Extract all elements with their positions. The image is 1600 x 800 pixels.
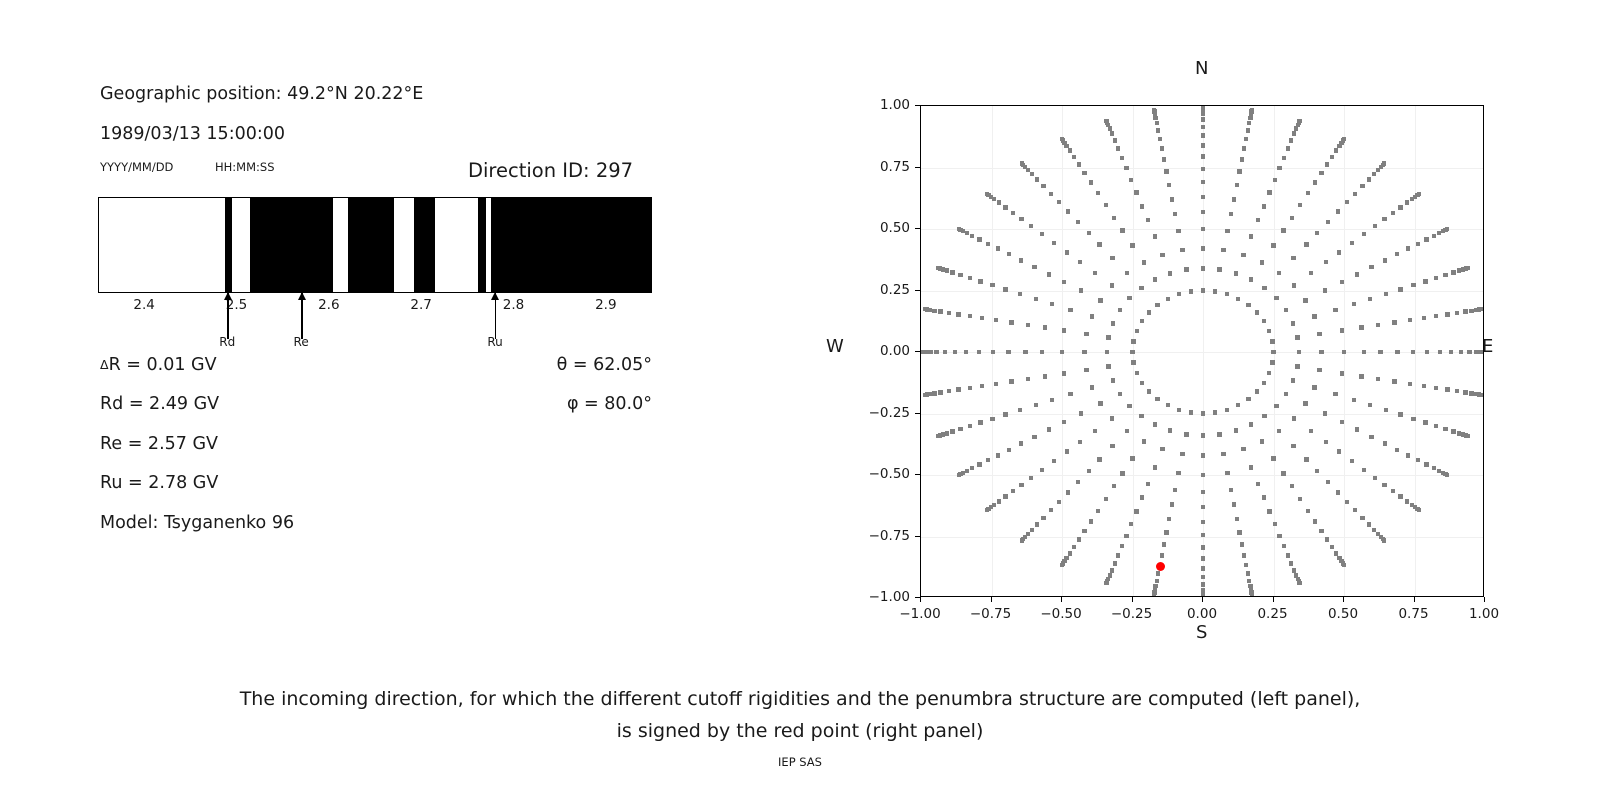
- sky-map-direction-dot: [1376, 323, 1380, 327]
- sky-map-direction-dot: [1155, 579, 1159, 583]
- sky-map-direction-dot: [1262, 381, 1266, 385]
- sky-map-direction-dot: [1336, 490, 1340, 494]
- sky-map-direction-dot: [1116, 146, 1120, 150]
- sky-map-direction-dot: [1041, 516, 1045, 520]
- sky-map-direction-dot: [1292, 416, 1296, 420]
- sky-map-direction-dot: [997, 499, 1001, 503]
- y-axis-tick-label: 0.00: [854, 343, 910, 359]
- sky-map-direction-dot: [1079, 288, 1083, 292]
- sky-map-direction-dot: [1040, 468, 1044, 472]
- sky-map-direction-dot: [980, 384, 984, 388]
- sky-map-direction-dot: [1443, 427, 1447, 431]
- sky-map-direction-dot: [1406, 246, 1410, 250]
- sky-map-direction-dot: [1392, 320, 1396, 324]
- sky-map-direction-dot: [950, 270, 954, 274]
- sky-map-direction-dot: [1124, 534, 1128, 538]
- sky-map-direction-dot: [1479, 393, 1483, 397]
- sky-map-direction-dot: [1291, 256, 1295, 260]
- sky-map-direction-dot: [1466, 266, 1470, 270]
- sky-map-direction-dot: [1089, 180, 1093, 184]
- sky-map-direction-dot: [1201, 520, 1205, 524]
- sky-map-direction-dot: [990, 417, 994, 421]
- sky-map-direction-dot: [1201, 288, 1205, 292]
- sky-map-direction-dot: [1057, 200, 1061, 204]
- penumbra-marker-ru-arrow-icon: [495, 293, 496, 339]
- sky-map-direction-dot: [1201, 533, 1205, 537]
- sky-map-direction-dot: [1319, 529, 1323, 533]
- caption-line-2: is signed by the red point (right panel): [0, 715, 1600, 747]
- sky-map-direction-dot: [1432, 234, 1436, 238]
- sky-map-direction-dot: [1434, 276, 1438, 280]
- sky-map-direction-dot: [1156, 128, 1160, 132]
- sky-map-direction-dot: [1106, 335, 1110, 339]
- sky-map-direction-dot: [1130, 350, 1134, 354]
- sky-map-direction-dot: [1298, 203, 1302, 207]
- sky-map-direction-dot: [1267, 371, 1271, 375]
- sky-map-direction-dot: [1246, 397, 1250, 401]
- sky-map-direction-dot: [1068, 148, 1072, 152]
- sky-map-direction-dot: [1201, 125, 1205, 129]
- penumbra-tick-label: 2.6: [318, 297, 339, 313]
- x-axis-tick-mark: [1414, 597, 1415, 602]
- y-axis-tick-label: 1.00: [854, 97, 910, 113]
- penumbra-marker-ru-label: Ru: [487, 335, 502, 349]
- sky-map-direction-dot: [1295, 335, 1299, 339]
- sky-map-direction-dot: [968, 276, 972, 280]
- sky-map-direction-dot: [1229, 488, 1233, 492]
- x-axis-tick-mark: [1343, 597, 1344, 602]
- sky-map-direction-dot: [1309, 429, 1313, 433]
- param-model: Model: Tsyganenko 96: [100, 513, 294, 533]
- sky-map-direction-dot: [1250, 108, 1254, 112]
- sky-map-direction-dot: [1445, 387, 1449, 391]
- sky-map-direction-dot: [1323, 288, 1327, 292]
- sky-map-direction-dot: [1422, 316, 1426, 320]
- sky-map-direction-dot: [1201, 505, 1205, 509]
- penumbra-strip: [98, 197, 652, 293]
- penumbra-tick-label: 2.4: [133, 297, 154, 313]
- sky-map-direction-dot: [1019, 258, 1023, 262]
- sky-map-direction-dot: [1326, 480, 1330, 484]
- sky-map-direction-dot: [1040, 232, 1044, 236]
- penumbra-blocked-band: [225, 198, 231, 292]
- sky-map-direction-dot: [1201, 575, 1205, 579]
- sky-map-direction-dot: [1391, 489, 1395, 493]
- sky-map-direction-dot: [1018, 292, 1022, 296]
- sky-map-direction-dot: [1009, 379, 1013, 383]
- sky-map-direction-dot: [1244, 137, 1248, 141]
- sky-map-direction-dot: [1140, 381, 1144, 385]
- sky-map-direction-dot: [1330, 545, 1334, 549]
- penumbra-chart: [98, 197, 652, 293]
- sky-map-direction-dot: [1098, 298, 1102, 302]
- sky-map-direction-dot: [1241, 447, 1245, 451]
- x-axis-tick-mark: [1132, 597, 1133, 602]
- sky-map-direction-dot: [1120, 156, 1124, 160]
- sky-map-direction-dot: [1247, 121, 1251, 125]
- param-text: R = 0.01 GV: [109, 355, 217, 375]
- sky-map-direction-dot: [1047, 272, 1051, 276]
- sky-map-direction-dot: [947, 389, 951, 393]
- sky-map-direction-dot: [1267, 190, 1271, 194]
- sky-map-direction-dot: [1445, 312, 1449, 316]
- sky-map-direction-dot: [1160, 146, 1164, 150]
- penumbra-marker-rd-arrow-icon: [227, 293, 228, 339]
- sky-map-direction-dot: [1326, 220, 1330, 224]
- sky-map-direction-dot: [1384, 292, 1388, 296]
- sky-map-direction-dot: [1140, 204, 1144, 208]
- sky-map-direction-dot: [1153, 234, 1157, 238]
- sky-map-direction-dot: [1236, 297, 1240, 301]
- sky-map-direction-dot: [1342, 137, 1346, 141]
- sky-map-direction-dot: [977, 462, 981, 466]
- sky-map-direction-dot: [1340, 280, 1344, 284]
- sky-map-direction-dot: [1304, 242, 1308, 246]
- sky-map-direction-dot: [1201, 143, 1205, 147]
- sky-map-direction-dot: [1382, 217, 1386, 221]
- sky-map-direction-dot: [1158, 137, 1162, 141]
- sky-map-direction-dot: [1281, 228, 1285, 232]
- penumbra-marker-re-arrow-icon: [301, 293, 302, 339]
- sky-map-direction-dot: [1362, 350, 1366, 354]
- sky-map-direction-dot: [932, 391, 936, 395]
- param-text: Ru = 2.78 GV: [100, 473, 218, 493]
- sky-map-direction-dot: [1180, 248, 1184, 252]
- sky-map-direction-dot: [1368, 403, 1372, 407]
- sky-map-direction-dot: [1455, 311, 1459, 315]
- sky-map-direction-dot: [1084, 332, 1088, 336]
- sky-map-direction-dot: [953, 350, 957, 354]
- compass-south-label: S: [1196, 622, 1207, 643]
- sky-map-direction-dot: [1087, 231, 1091, 235]
- param-re: Re = 2.57 GV: [100, 434, 218, 454]
- sky-map-direction-dot: [1168, 428, 1172, 432]
- sky-map-direction-dot: [1330, 155, 1334, 159]
- sky-map-direction-dot: [1443, 273, 1447, 277]
- sky-map-direction-dot: [1155, 121, 1159, 125]
- sky-map-direction-dot: [1155, 303, 1159, 307]
- sky-map-direction-dot: [1398, 412, 1402, 416]
- sky-map-direction-dot: [1451, 429, 1455, 433]
- sky-map-direction-dot: [1062, 328, 1066, 332]
- y-axis-tick-mark: [915, 474, 920, 475]
- sky-map-direction-dot: [1372, 172, 1376, 176]
- sky-map-direction-dot: [1201, 167, 1205, 171]
- sky-map-direction-dot: [1118, 308, 1122, 312]
- sky-map-direction-dot: [1135, 329, 1139, 333]
- sky-map-direction-dot: [1082, 171, 1086, 175]
- sky-map-direction-dot: [1249, 465, 1253, 469]
- sky-map-plot-area: [920, 105, 1484, 597]
- sky-map-direction-dot: [1411, 417, 1415, 421]
- sky-map-direction-dot: [1177, 292, 1181, 296]
- sky-map-direction-dot: [1120, 544, 1124, 548]
- penumbra-marker-re-label: Re: [294, 335, 309, 349]
- sky-map-direction-dot: [1319, 171, 1323, 175]
- sky-map-direction-dot: [1298, 497, 1302, 501]
- penumbra-axis: 2.42.52.62.72.82.9RdReRu: [98, 293, 652, 339]
- sky-map-direction-dot: [977, 350, 981, 354]
- sky-map-direction-dot: [1201, 180, 1205, 184]
- sky-map-direction-dot: [1434, 386, 1438, 390]
- sky-map-direction-dot: [1244, 563, 1248, 567]
- sky-map-direction-dot: [1282, 156, 1286, 160]
- sky-map-direction-dot: [968, 314, 972, 318]
- penumbra-blocked-band: [414, 198, 435, 292]
- sky-map-direction-dot: [1369, 435, 1373, 439]
- sky-map-direction-dot: [1120, 228, 1124, 232]
- penumbra-tick-label: 2.7: [410, 297, 431, 313]
- sky-map-direction-dot: [1090, 314, 1094, 318]
- sky-map-direction-dot: [1184, 432, 1188, 436]
- sky-map-direction-dot: [1289, 138, 1293, 142]
- sky-map-direction-dot: [1324, 260, 1328, 264]
- sky-map-direction-dot: [1463, 390, 1467, 394]
- x-axis-tick-label: 0.00: [1187, 606, 1217, 622]
- sky-map-direction-dot: [1267, 329, 1271, 333]
- y-axis-tick-label: 0.25: [854, 282, 910, 298]
- sky-map-direction-dot: [1104, 203, 1108, 207]
- sky-map-direction-dot: [1007, 252, 1011, 256]
- sky-map-direction-dot: [1097, 242, 1101, 246]
- penumbra-tick-label: 2.8: [503, 297, 524, 313]
- sky-map-direction-dot: [1292, 131, 1296, 135]
- sky-map-direction-dot: [1423, 279, 1427, 283]
- sky-map-direction-dot: [1352, 398, 1356, 402]
- y-axis-tick-mark: [915, 413, 920, 414]
- sky-map-direction-dot: [1333, 392, 1337, 396]
- sky-map-direction-dot: [1445, 227, 1449, 231]
- sky-map-direction-dot: [923, 393, 927, 397]
- sky-map-direction-dot: [1340, 420, 1344, 424]
- sky-map-direction-dot: [1112, 216, 1116, 220]
- sky-map-direction-dot: [1273, 522, 1277, 526]
- sky-map-direction-dot: [923, 307, 927, 311]
- sky-map-direction-dot: [1260, 260, 1264, 264]
- sky-map-direction-dot: [1041, 184, 1045, 188]
- sky-map-direction-dot: [1405, 499, 1409, 503]
- sky-map-direction-dot: [1104, 581, 1108, 585]
- x-axis-tick-label: 0.50: [1328, 606, 1358, 622]
- sky-map-direction-dot: [1286, 146, 1290, 150]
- sky-map-direction-dot: [1236, 403, 1240, 407]
- sky-map-direction-dot: [997, 200, 1001, 204]
- sky-map-direction-dot: [1323, 411, 1327, 415]
- sky-map-direction-dot: [1110, 256, 1114, 260]
- sky-map-direction-dot: [1201, 227, 1205, 231]
- sky-map-direction-dot: [1277, 271, 1281, 275]
- sky-map-direction-dot: [1291, 378, 1295, 382]
- sky-map-direction-dot: [1368, 297, 1372, 301]
- sky-map-direction-dot: [1247, 579, 1251, 583]
- sky-map-direction-dot: [1201, 133, 1205, 137]
- sky-map-direction-dot: [1166, 403, 1170, 407]
- sky-map-direction-dot: [1256, 482, 1260, 486]
- sky-map-direction-dot: [1023, 350, 1027, 354]
- sky-map-direction-dot: [1466, 434, 1470, 438]
- sky-map-direction-dot: [1297, 119, 1301, 123]
- sky-map-direction-dot: [1093, 271, 1097, 275]
- sky-map-direction-dot: [1355, 272, 1359, 276]
- sky-map-direction-dot: [1232, 502, 1236, 506]
- sky-map-direction-dot: [1020, 161, 1024, 165]
- sky-map-direction-dot: [1189, 410, 1193, 414]
- sky-map-direction-dot: [1201, 195, 1205, 199]
- sky-map-direction-dot: [1060, 563, 1064, 567]
- sky-map-direction-dot: [920, 350, 923, 354]
- sky-map-direction-dot: [1152, 592, 1156, 596]
- sky-map-direction-dot: [1262, 204, 1266, 208]
- sky-map-direction-dot: [1062, 280, 1066, 284]
- y-axis-tick-label: −0.25: [854, 405, 910, 421]
- y-axis-tick-mark: [915, 351, 920, 352]
- sky-map-direction-dot: [1180, 452, 1184, 456]
- sky-map-direction-dot: [1140, 495, 1144, 499]
- sky-map-direction-dot: [1065, 449, 1069, 453]
- sky-map-direction-dot: [1152, 108, 1156, 112]
- param-rd: Rd = 2.49 GV: [100, 394, 219, 414]
- sky-map-direction-dot: [1176, 229, 1180, 233]
- sky-map-direction-dot: [985, 508, 989, 512]
- sky-map-direction-dot: [1057, 500, 1061, 504]
- sky-map-direction-dot: [1408, 318, 1412, 322]
- sky-map-direction-dot: [1225, 471, 1229, 475]
- sky-map-direction-dot: [996, 453, 1000, 457]
- sky-map-direction-dot: [1271, 456, 1275, 460]
- sky-map-direction-dot: [1096, 509, 1100, 513]
- sky-map-direction-dot: [1367, 522, 1371, 526]
- sky-map-direction-dot: [1303, 401, 1307, 405]
- sky-map-direction-dot: [1255, 310, 1259, 314]
- sky-map-direction-dot: [1007, 448, 1011, 452]
- sky-map-direction-dot: [1184, 267, 1188, 271]
- sky-map-direction-dot: [1395, 448, 1399, 452]
- sky-map-direction-dot: [1416, 242, 1420, 246]
- sky-map-direction-dot: [1035, 522, 1039, 526]
- y-axis-tick-mark: [915, 167, 920, 168]
- sky-map-direction-dot: [1201, 210, 1205, 214]
- sky-map-direction-dot: [1160, 447, 1164, 451]
- sky-map-direction-dot: [1350, 241, 1354, 245]
- sky-map-direction-dot: [956, 312, 960, 316]
- sky-map-direction-dot: [1242, 146, 1246, 150]
- sky-map-direction-dot: [1378, 350, 1382, 354]
- sky-map-direction-dot: [1173, 212, 1177, 216]
- sky-map-direction-dot: [1072, 545, 1076, 549]
- sky-map-direction-dot: [1201, 473, 1205, 477]
- sky-map-direction-dot: [1463, 309, 1467, 313]
- sky-map-direction-dot: [1113, 561, 1117, 565]
- compass-north-label: N: [1195, 58, 1208, 79]
- sky-map-direction-dot: [958, 427, 962, 431]
- sky-map-direction-dot: [1405, 200, 1409, 204]
- sky-map-direction-dot: [1019, 441, 1023, 445]
- sky-map-direction-dot: [1342, 563, 1346, 567]
- sky-map-direction-dot: [1139, 414, 1143, 418]
- sky-map-direction-dot: [1411, 350, 1415, 354]
- sky-map-direction-dot: [1026, 323, 1030, 327]
- sky-map-direction-dot: [1113, 138, 1117, 142]
- sky-map-direction-dot: [1062, 420, 1066, 424]
- sky-map-direction-dot: [1018, 408, 1022, 412]
- sky-map-direction-dot: [1246, 571, 1250, 575]
- sky-map-direction-dot: [1304, 457, 1308, 461]
- sky-map-direction-dot: [1110, 131, 1114, 135]
- sky-map-direction-dot: [1077, 162, 1081, 166]
- sky-map-direction-dot: [1289, 561, 1293, 565]
- sky-map-direction-dot: [964, 350, 968, 354]
- sky-map-direction-dot: [1319, 350, 1323, 354]
- sky-map-direction-dot: [1135, 371, 1139, 375]
- sky-map-direction-dot: [1337, 250, 1341, 254]
- sky-map-direction-dot: [1043, 325, 1047, 329]
- sky-map-direction-dot: [1104, 119, 1108, 123]
- sky-map-direction-dot: [1416, 458, 1420, 462]
- sky-map-direction-dot: [1242, 553, 1246, 557]
- sky-map-direction-dot: [986, 242, 990, 246]
- sky-map-direction-dot: [1050, 398, 1054, 402]
- sky-map-direction-dot: [1290, 216, 1294, 220]
- sky-map-direction-dot: [1096, 191, 1100, 195]
- sky-map-direction-dot: [1142, 260, 1146, 264]
- y-axis-tick-label: −0.75: [854, 528, 910, 544]
- sky-map-direction-dot: [1156, 571, 1160, 575]
- sky-map-direction-dot: [1201, 433, 1205, 437]
- compass-east-label: E: [1482, 336, 1493, 357]
- sky-map-direction-dot: [1060, 137, 1064, 141]
- sky-map-direction-dot: [1277, 166, 1281, 170]
- sky-map-direction-dot: [1376, 377, 1380, 381]
- sky-map-direction-dot: [1167, 517, 1171, 521]
- sky-map-direction-dot: [945, 431, 949, 435]
- sky-map-direction-dot: [1003, 412, 1007, 416]
- sky-map-direction-dot: [1106, 364, 1110, 368]
- sky-map-direction-dot: [1173, 488, 1177, 492]
- sky-map-direction-dot: [1089, 519, 1093, 523]
- sky-map-direction-dot: [1104, 497, 1108, 501]
- sky-map-direction-dot: [1382, 161, 1386, 165]
- sky-map-direction-dot: [1201, 453, 1205, 457]
- sky-map-direction-dot: [1438, 350, 1442, 354]
- sky-map-direction-dot: [1235, 517, 1239, 521]
- param-phi: φ = 80.0°: [567, 394, 652, 414]
- sky-map-direction-dot: [1284, 392, 1288, 396]
- sky-map-direction-dot: [1201, 566, 1205, 570]
- sky-map-direction-dot: [1003, 205, 1007, 209]
- sky-map-direction-dot: [1225, 408, 1229, 412]
- left-panel: Geographic position: 49.2°N 20.22°E 1989…: [0, 0, 800, 660]
- sky-map-direction-dot: [1129, 178, 1133, 182]
- sky-map-direction-dot: [1352, 302, 1356, 306]
- sky-map-direction-dot: [1078, 260, 1082, 264]
- sky-map-direction-dot: [1201, 545, 1205, 549]
- sky-map-direction-dot: [1098, 401, 1102, 405]
- sky-map-direction-dot: [977, 237, 981, 241]
- param-text: Re = 2.57 GV: [100, 434, 218, 454]
- sky-map-direction-dot: [928, 350, 932, 354]
- caption-line-1: The incoming direction, for which the di…: [0, 683, 1600, 715]
- sky-map-direction-dot: [1221, 452, 1225, 456]
- sky-map-direction-dot: [1068, 392, 1072, 396]
- x-axis-tick-mark: [1484, 597, 1485, 602]
- sky-map-direction-dot: [1417, 508, 1421, 512]
- sky-map-direction-dot: [1134, 190, 1138, 194]
- sky-map-direction-dot: [1111, 321, 1115, 325]
- sky-map-direction-dot: [938, 390, 942, 394]
- sky-map-direction-dot: [1271, 350, 1275, 354]
- sky-map-direction-dot: [957, 473, 961, 477]
- sky-map-direction-dot: [1155, 397, 1159, 401]
